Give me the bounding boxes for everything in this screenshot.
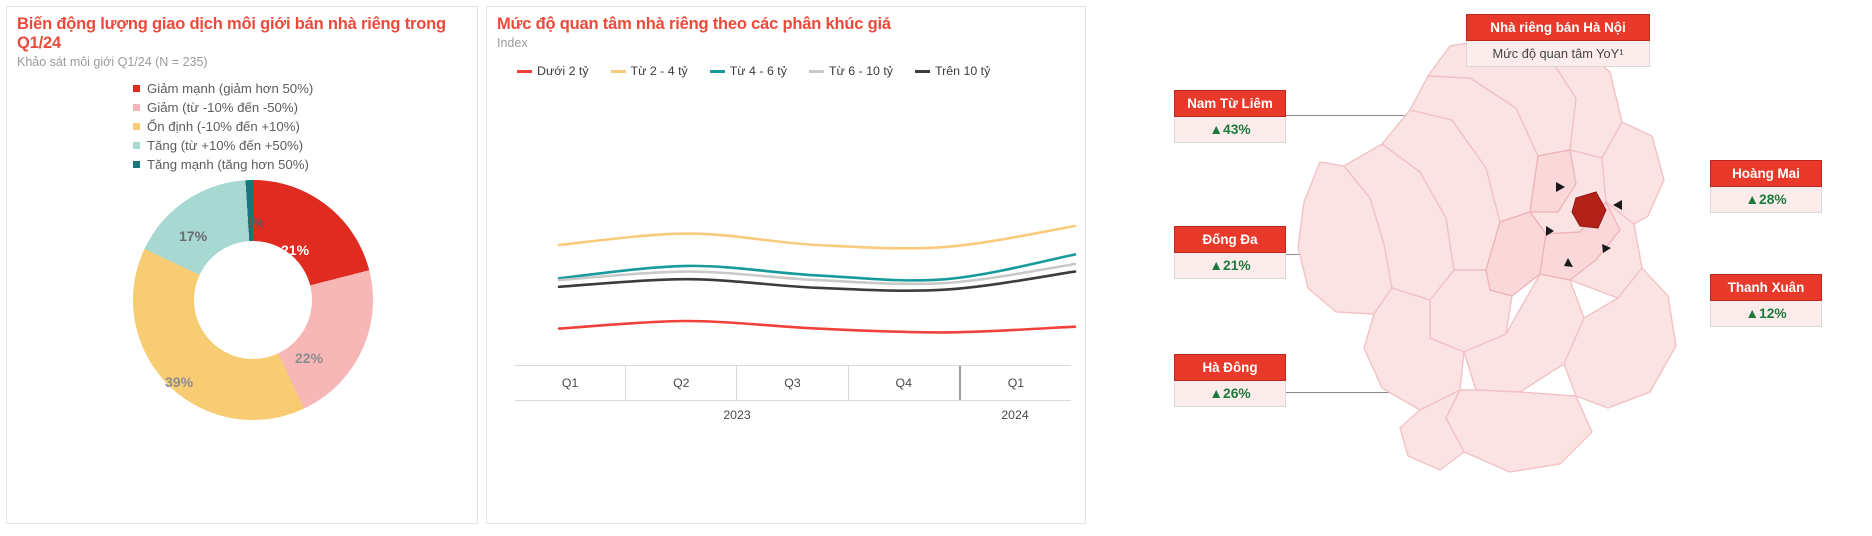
x-axis-years: 2023 2024: [515, 401, 1071, 429]
donut-label-4: 17%: [179, 228, 207, 244]
donut-label-2: 22%: [295, 350, 323, 366]
legend-item[interactable]: Dưới 2 tỷ: [517, 64, 589, 78]
map-header-metric: Mức độ quan tâm YoY¹: [1466, 41, 1650, 67]
callout-name: Đống Đa: [1174, 226, 1286, 253]
legend-line-icon: [710, 70, 725, 73]
donut-label-3: 39%: [165, 374, 193, 390]
x-axis: Q1 Q2 Q3 Q4 Q1 2023 2024: [515, 365, 1071, 429]
x-year-2024: 2024: [959, 401, 1071, 429]
callout-thanh-xuan[interactable]: Thanh Xuân ▲12%: [1710, 274, 1822, 327]
legend-line-icon: [517, 70, 532, 73]
map-header-title: Nhà riêng bán Hà Nội: [1466, 14, 1650, 41]
map-header-callout[interactable]: Nhà riêng bán Hà Nội Mức độ quan tâm YoY…: [1466, 14, 1650, 67]
legend-line-icon: [809, 70, 824, 73]
hanoi-district-map[interactable]: [1224, 12, 1724, 512]
line-legend: Dưới 2 tỷ Từ 2 - 4 tỷ Từ 4 - 6 tỷ Từ 6 -…: [487, 50, 1085, 78]
legend-label: Giảm mạnh (giảm hơn 50%): [147, 81, 313, 96]
x-axis-quarters: Q1 Q2 Q3 Q4 Q1: [515, 365, 1071, 401]
legend-swatch-icon: [133, 85, 140, 92]
callout-name: Hoàng Mai: [1710, 160, 1822, 187]
callout-value: ▲12%: [1710, 301, 1822, 327]
legend-item[interactable]: Giảm (từ -10% đến -50%): [133, 98, 477, 117]
callout-value: ▲21%: [1174, 253, 1286, 279]
callout-nam-tu-liem[interactable]: Nam Từ Liêm ▲43%: [1174, 90, 1286, 143]
line-chart-svg[interactable]: [487, 78, 1087, 398]
page-title: Biến động lượng giao dịch môi giới bán n…: [7, 7, 477, 53]
donut-legend: Giảm mạnh (giảm hơn 50%) Giảm (từ -10% đ…: [7, 79, 477, 174]
x-tick-q1-2023: Q1: [515, 366, 625, 400]
x-year-2023: 2023: [515, 401, 959, 429]
callout-dong-da[interactable]: Đống Đa ▲21%: [1174, 226, 1286, 279]
legend-swatch-icon: [133, 161, 140, 168]
legend-swatch-icon: [133, 142, 140, 149]
legend-label: Trên 10 tỷ: [935, 64, 990, 78]
x-tick-q4-2023: Q4: [848, 366, 959, 400]
donut-chart: 21% 22% 39% 17% 1%: [7, 180, 479, 450]
dashboard: Biến động lượng giao dịch môi giới bán n…: [0, 0, 1872, 536]
legend-line-icon: [915, 70, 930, 73]
legend-item[interactable]: Trên 10 tỷ: [915, 64, 990, 78]
callout-name: Thanh Xuân: [1710, 274, 1822, 301]
callout-value: ▲26%: [1174, 381, 1286, 407]
legend-swatch-icon: [133, 123, 140, 130]
legend-swatch-icon: [133, 104, 140, 111]
callout-name: Nam Từ Liêm: [1174, 90, 1286, 117]
donut-label-1: 21%: [281, 242, 309, 258]
legend-item[interactable]: Ổn định (-10% đến +10%): [133, 117, 477, 136]
donut-hole: [194, 241, 312, 359]
legend-item[interactable]: Giảm mạnh (giảm hơn 50%): [133, 79, 477, 98]
legend-label: Từ 4 - 6 tỷ: [730, 64, 787, 78]
legend-label: Giảm (từ -10% đến -50%): [147, 100, 298, 115]
line-series-dưới-2-tỷ: [559, 321, 1075, 332]
panel-transaction-change: Biến động lượng giao dịch môi giới bán n…: [6, 6, 478, 524]
x-tick-q2-2023: Q2: [625, 366, 736, 400]
legend-item[interactable]: Từ 4 - 6 tỷ: [710, 64, 787, 78]
panel-interest-by-price: Mức độ quan tâm nhà riêng theo các phân …: [486, 6, 1086, 524]
legend-label: Tăng (từ +10% đến +50%): [147, 138, 303, 153]
callout-hoang-mai[interactable]: Hoàng Mai ▲28%: [1710, 160, 1822, 213]
legend-label: Từ 2 - 4 tỷ: [631, 64, 688, 78]
panel-subtitle: Index: [487, 34, 1085, 50]
x-tick-q1-2024: Q1: [959, 366, 1071, 400]
callout-value: ▲43%: [1174, 117, 1286, 143]
panel-title: Mức độ quan tâm nhà riêng theo các phân …: [487, 7, 1085, 34]
x-tick-q3-2023: Q3: [736, 366, 847, 400]
callout-ha-dong[interactable]: Hà Đông ▲26%: [1174, 354, 1286, 407]
legend-item[interactable]: Tăng (từ +10% đến +50%): [133, 136, 477, 155]
callout-name: Hà Đông: [1174, 354, 1286, 381]
panel-hanoi-map: Nhà riêng bán Hà Nội Mức độ quan tâm YoY…: [1094, 2, 1864, 532]
legend-label: Tăng mạnh (tăng hơn 50%): [147, 157, 309, 172]
legend-line-icon: [611, 70, 626, 73]
legend-label: Từ 6 - 10 tỷ: [829, 64, 893, 78]
donut-label-5: 1%: [247, 216, 264, 230]
legend-item[interactable]: Từ 6 - 10 tỷ: [809, 64, 893, 78]
legend-item[interactable]: Tăng mạnh (tăng hơn 50%): [133, 155, 477, 174]
callout-value: ▲28%: [1710, 187, 1822, 213]
legend-label: Ổn định (-10% đến +10%): [147, 119, 300, 134]
line-plot-area: [487, 78, 1087, 398]
line-series-từ-2---4-tỷ: [559, 226, 1075, 248]
legend-label: Dưới 2 tỷ: [537, 64, 589, 78]
legend-item[interactable]: Từ 2 - 4 tỷ: [611, 64, 688, 78]
panel-subtitle: Khảo sát môi giới Q1/24 (N = 235): [7, 53, 477, 69]
